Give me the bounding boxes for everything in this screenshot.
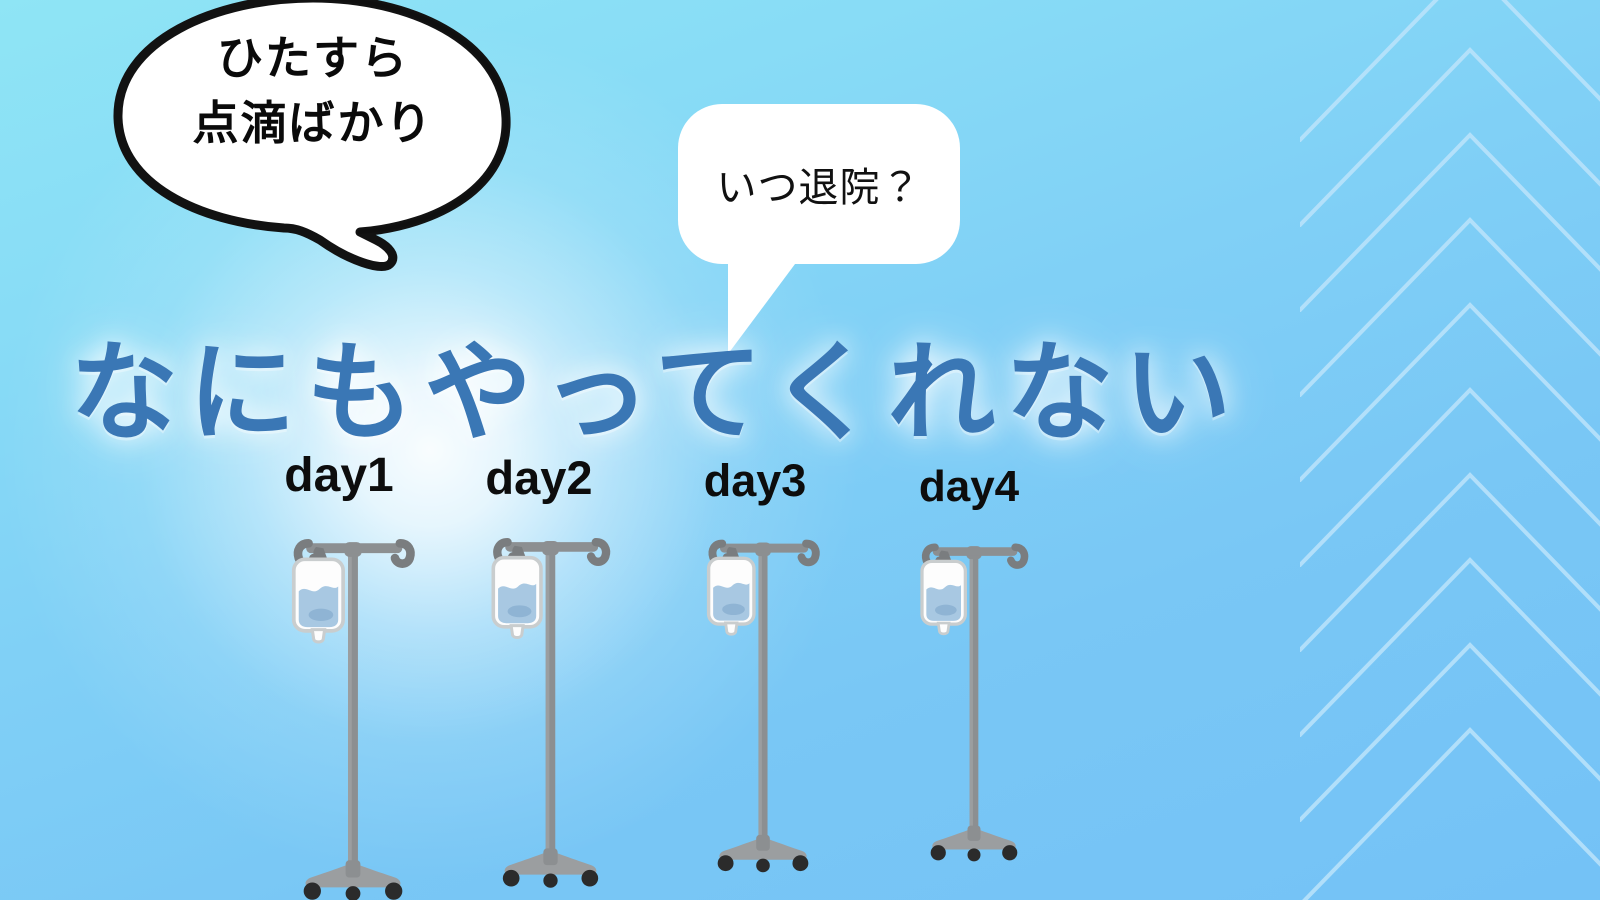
speech-bubble-hitasura-tenteki: ひたすら 点滴ばかり (108, 0, 518, 278)
iv-stand-2 (479, 510, 622, 891)
iv-stand-1 (279, 510, 427, 900)
speech-bubble-itsu-taiin: いつ退院？ (678, 104, 960, 264)
day-label-3: day3 (648, 455, 862, 507)
iv-stand-3 (695, 513, 831, 876)
iv-stand-4 (909, 518, 1039, 865)
bubble1-line-2: 点滴ばかり (108, 91, 518, 156)
day-label-2: day2 (432, 450, 646, 505)
day-label-1: day1 (232, 448, 446, 503)
bubble2-text: いつ退院？ (678, 104, 960, 264)
bubble1-text: ひたすら 点滴ばかり (108, 26, 518, 157)
poster-canvas: ひたすら 点滴ばかり いつ退院？ なにもやってくれない day1 (0, 0, 1600, 900)
page-title: なにもやってくれない (70, 306, 1330, 462)
day-label-4: day4 (862, 462, 1076, 512)
bubble1-line-1: ひたすら (108, 26, 518, 91)
chevron-arrow-outline-pattern (1300, 0, 1600, 900)
